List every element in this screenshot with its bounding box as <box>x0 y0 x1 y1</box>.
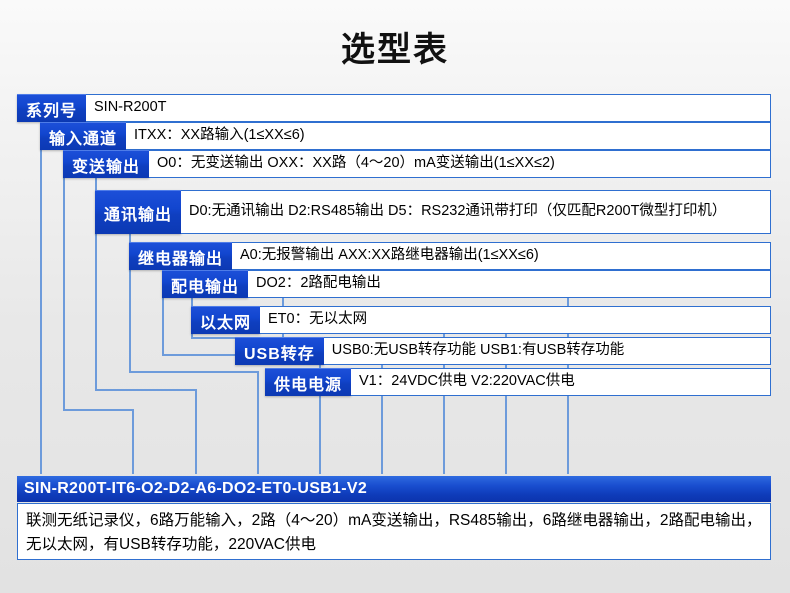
row-tag-supply-power: 供电电源 <box>265 368 351 396</box>
row-value-series: SIN-R200T <box>86 94 771 122</box>
row-value-relay-output: A0:无报警输出 AXX:XX路继电器输出(1≤XX≤6) <box>232 242 771 270</box>
row-value-ethernet: ET0：无以太网 <box>260 306 771 334</box>
row-tag-ethernet: 以太网 <box>191 306 260 334</box>
option-row-supply-power[interactable]: 供电电源 V1：24VDC供电 V2:220VAC供电 <box>265 368 771 396</box>
option-row-transmit-output[interactable]: 变送输出 O0：无变送输出 OXX：XX路（4～20）mA变送输出(1≤XX≤2… <box>63 150 771 178</box>
row-tag-power-distribution: 配电输出 <box>162 270 248 298</box>
summary-model-code: SIN-R200T-IT6-O2-D2-A6-DO2-ET0-USB1-V2 <box>17 476 771 502</box>
row-value-input-channel: ITXX：XX路输入(1≤XX≤6) <box>126 122 771 150</box>
row-tag-transmit-output: 变送输出 <box>63 150 149 178</box>
row-value-comm-output: D0:无通讯输出 D2:RS485输出 D5：RS232通讯带打印（仅匹配R20… <box>181 190 771 234</box>
option-row-series[interactable]: 系列号 SIN-R200T <box>17 94 771 122</box>
option-row-comm-output[interactable]: 通讯输出 D0:无通讯输出 D2:RS485输出 D5：RS232通讯带打印（仅… <box>95 190 771 234</box>
row-tag-series: 系列号 <box>17 94 86 122</box>
summary-description: 联测无纸记录仪，6路万能输入，2路（4～20）mA变送输出，RS485输出，6路… <box>17 503 771 560</box>
option-row-usb-storage[interactable]: USB转存 USB0:无USB转存功能 USB1:有USB转存功能 <box>235 337 771 365</box>
option-row-input-channel[interactable]: 输入通道 ITXX：XX路输入(1≤XX≤6) <box>40 122 771 150</box>
row-tag-comm-output: 通讯输出 <box>95 190 181 234</box>
option-row-power-distribution[interactable]: 配电输出 DO2：2路配电输出 <box>162 270 771 298</box>
row-value-transmit-output: O0：无变送输出 OXX：XX路（4～20）mA变送输出(1≤XX≤2) <box>149 150 771 178</box>
row-tag-relay-output: 继电器输出 <box>129 242 232 270</box>
row-value-usb-storage: USB0:无USB转存功能 USB1:有USB转存功能 <box>324 337 771 365</box>
row-tag-input-channel: 输入通道 <box>40 122 126 150</box>
page-title: 选型表 <box>0 22 790 71</box>
option-row-ethernet[interactable]: 以太网 ET0：无以太网 <box>191 306 771 334</box>
row-value-supply-power: V1：24VDC供电 V2:220VAC供电 <box>351 368 771 396</box>
row-value-power-distribution: DO2：2路配电输出 <box>248 270 771 298</box>
row-tag-usb-storage: USB转存 <box>235 337 324 365</box>
option-row-relay-output[interactable]: 继电器输出 A0:无报警输出 AXX:XX路继电器输出(1≤XX≤6) <box>129 242 771 270</box>
